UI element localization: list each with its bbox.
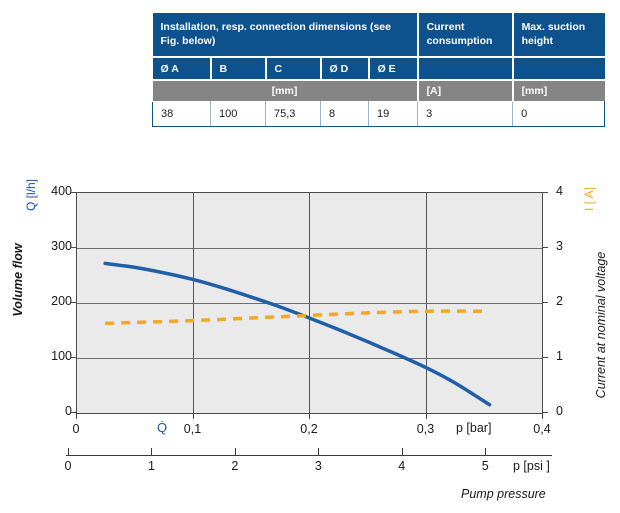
subheader-b: B (211, 57, 266, 80)
x-tick-mark-psi (235, 448, 236, 456)
psi-axis-line (66, 455, 552, 456)
x-tick-label-psi: 0 (48, 459, 88, 473)
y-axis-right-name-label: Current at nominal voltage (594, 235, 608, 415)
y-tick-mark-right (542, 192, 548, 193)
value-current-consumption: 3 (418, 102, 513, 127)
subheader-dia-d: Ø D (321, 57, 369, 80)
y-axis-right-unit-label: I [ A] (582, 169, 596, 229)
volume-flow-curve (105, 263, 489, 404)
y-axis-left-name-label: Volume flow (11, 220, 25, 340)
x-tick-label-psi: 1 (131, 459, 171, 473)
x-tick-label-psi: 3 (298, 459, 338, 473)
x-tick-mark-bar (542, 412, 543, 419)
subheader-dia-e: Ø E (369, 57, 418, 80)
y-tick-mark-right (542, 247, 548, 248)
value-max-suction-height: 0 (513, 102, 605, 127)
x-tick-mark-bar (76, 412, 77, 419)
x-tick-mark-bar (309, 412, 310, 419)
x-tick-mark-psi (68, 448, 69, 456)
table-row: 38 100 75,3 8 19 3 0 (153, 102, 605, 127)
y-tick-label-right: 4 (556, 184, 586, 198)
x-tick-label-psi: 5 (465, 459, 505, 473)
y-tick-mark-left (70, 302, 76, 303)
x-tick-label-bar: 0 (56, 422, 96, 436)
y-tick-mark-left (70, 357, 76, 358)
pump-performance-chart: Q [l/h] Volume flow I [ A] Current at no… (0, 170, 620, 513)
table-header-row: Installation, resp. connection dimension… (153, 13, 605, 57)
header-max-suction-height: Max. suction height (513, 13, 605, 57)
x-axis-bar-label: p [bar] (456, 421, 491, 435)
specification-table: Installation, resp. connection dimension… (152, 13, 605, 127)
value-c: 75,3 (266, 102, 321, 127)
x-tick-label-bar: 0,2 (289, 422, 329, 436)
table-subheader-row: Ø A B C Ø D Ø E (153, 57, 605, 80)
x-tick-mark-bar (426, 412, 427, 419)
curve-layer (76, 193, 542, 413)
x-tick-mark-psi (318, 448, 319, 456)
y-tick-mark-right (542, 357, 548, 358)
x-tick-mark-bar (193, 412, 194, 419)
value-dia-a: 38 (153, 102, 211, 127)
unit-ampere: [A] (418, 80, 513, 102)
unit-mm-suction: [mm] (513, 80, 605, 102)
y-tick-label-right: 1 (556, 349, 586, 363)
header-current-consumption: Current consumption (418, 13, 513, 57)
subheader-dia-a: Ø A (153, 57, 211, 80)
table-unit-row: [mm] [A] [mm] (153, 80, 605, 102)
y-tick-label-right: 2 (556, 294, 586, 308)
y-tick-mark-left (70, 192, 76, 193)
chart-caption: Pump pressure (461, 487, 546, 501)
subheader-c: C (266, 57, 321, 80)
y-tick-label-left: 0 (32, 404, 72, 418)
x-tick-mark-psi (402, 448, 403, 456)
y-tick-label-left: 300 (32, 239, 72, 253)
value-b: 100 (211, 102, 266, 127)
plot-area (76, 192, 542, 414)
volume-flow-curve-annotation: Q̇ (157, 420, 167, 435)
header-dimensions: Installation, resp. connection dimension… (153, 13, 418, 57)
y-tick-label-left: 100 (32, 349, 72, 363)
value-dia-e: 19 (369, 102, 418, 127)
x-tick-label-psi: 2 (215, 459, 255, 473)
x-axis-psi-label: p [psi ] (513, 459, 550, 473)
y-tick-label-right: 3 (556, 239, 586, 253)
value-dia-d: 8 (321, 102, 369, 127)
x-tick-label-bar: 0,1 (173, 422, 213, 436)
x-tick-mark-psi (485, 448, 486, 456)
unit-mm-dimensions: [mm] (153, 80, 418, 102)
x-tick-label-psi: 4 (382, 459, 422, 473)
subheader-suction-blank (513, 57, 605, 80)
x-tick-label-bar: 0,4 (522, 422, 562, 436)
y-tick-label-left: 200 (32, 294, 72, 308)
y-tick-label-right: 0 (556, 404, 586, 418)
x-tick-mark-psi (151, 448, 152, 456)
subheader-current-blank (418, 57, 513, 80)
y-tick-mark-left (70, 247, 76, 248)
y-tick-mark-right (542, 302, 548, 303)
x-tick-label-bar: 0,3 (406, 422, 446, 436)
y-tick-label-left: 400 (32, 184, 72, 198)
